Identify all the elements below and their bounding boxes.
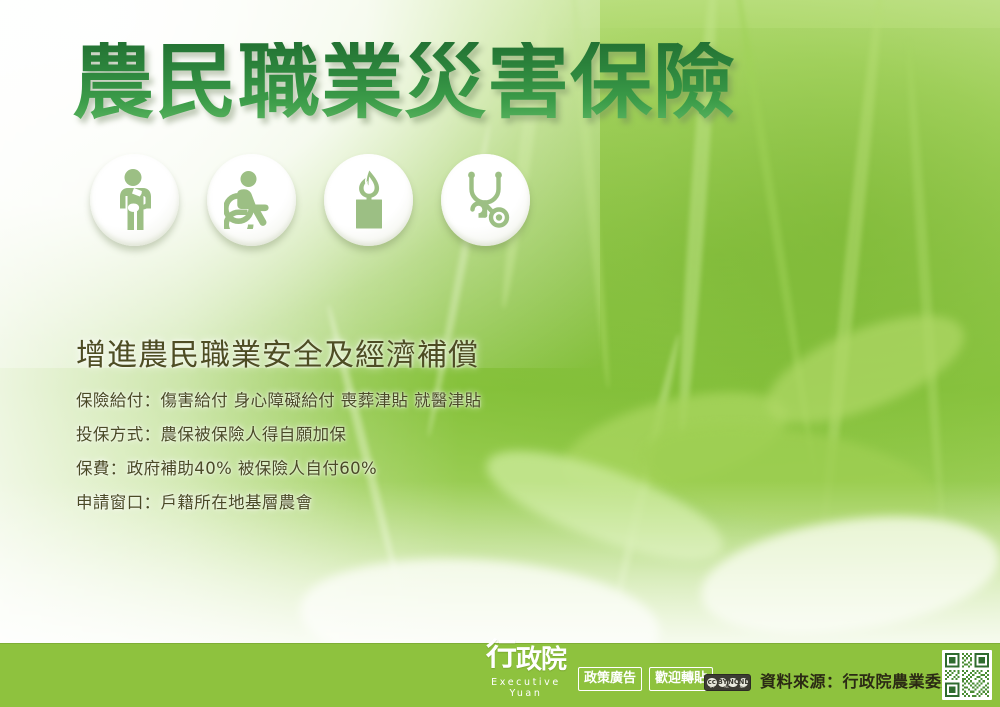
cc-sub-nd: ND — [740, 685, 745, 690]
logo-chars-zhengyuan: 政院 — [516, 645, 566, 675]
executive-yuan-logo-en: Executive Yuan — [478, 677, 574, 699]
poster-canvas: 農民職業災害保險 — [0, 0, 1000, 707]
poster-title-wrap: 農民職業災害保險 — [72, 42, 736, 124]
logo-char-xing: 行 — [486, 637, 516, 673]
poster-title: 農民職業災害保險 — [72, 42, 736, 124]
poster-body-copy: 增進農民職業安全及經濟補償 保險給付：傷害給付 身心障礙給付 喪葬津貼 就醫津貼… — [76, 330, 596, 523]
creative-commons-license-badge: cc BY NC ND BY NC ND — [704, 674, 751, 691]
badge-injury-benefit — [90, 154, 179, 246]
qr-code-image — [945, 653, 989, 697]
badge-funeral-allowance — [324, 154, 413, 246]
badge-medical-allowance — [441, 154, 530, 246]
injured-person-with-sling-icon — [109, 169, 161, 231]
qr-code — [942, 650, 992, 700]
cc-sub-by: BY — [710, 685, 714, 690]
footer-tag-group: 政策廣告 歡迎轉貼 — [578, 667, 713, 691]
stethoscope-icon — [458, 169, 514, 231]
cc-sub-labels: BY NC ND — [705, 685, 750, 690]
tag-policy-ad: 政策廣告 — [578, 667, 642, 691]
wheelchair-user-icon — [224, 171, 280, 229]
copy-line-benefits: 保險給付：傷害給付 身心障礙給付 喪葬津貼 就醫津貼 — [76, 387, 596, 411]
benefit-icon-row — [90, 154, 530, 246]
executive-yuan-logo: 行政院 Executive Yuan — [478, 643, 574, 699]
copy-line-where-to-apply: 申請窗口：戶籍所在地基層農會 — [76, 489, 596, 513]
candle-icon — [345, 169, 393, 231]
cc-sub-nc: NC — [725, 685, 730, 690]
poster-headline: 增進農民職業安全及經濟補償 — [76, 330, 596, 374]
copy-line-premium: 保費：政府補助40% 被保險人自付60% — [76, 455, 596, 479]
badge-disability-benefit — [207, 154, 296, 246]
executive-yuan-logo-cn: 行政院 — [478, 643, 574, 674]
copy-line-enrollment: 投保方式：農保被保險人得自願加保 — [76, 421, 596, 445]
footer-bar: 行政院 Executive Yuan 政策廣告 歡迎轉貼 cc BY NC ND… — [0, 643, 1000, 707]
